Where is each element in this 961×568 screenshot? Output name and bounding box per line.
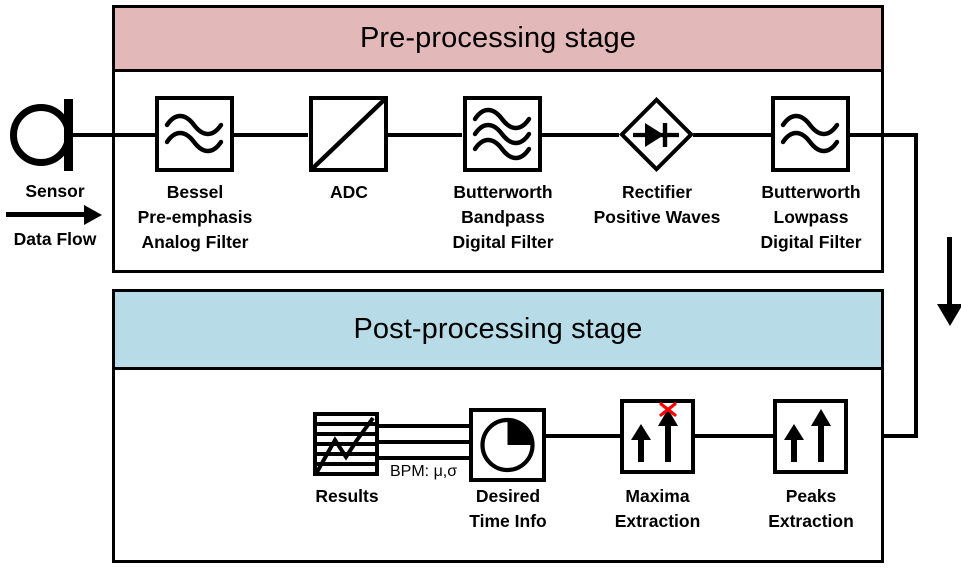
two-up-arrows-icon bbox=[777, 403, 844, 470]
block-results[interactable] bbox=[313, 412, 379, 476]
block-bessel[interactable] bbox=[155, 96, 234, 172]
block-desired-time-info-label: DesiredTime Info bbox=[440, 484, 576, 534]
block-butterworth-lowpass[interactable] bbox=[771, 96, 850, 172]
block-desired-time-info[interactable] bbox=[469, 408, 546, 482]
block-butterworth-bandpass-label: ButterworthBandpassDigital Filter bbox=[418, 180, 588, 255]
wire-sensor-to-bessel bbox=[70, 133, 155, 137]
sensor-icon bbox=[10, 104, 72, 166]
pre-processing-stage-header: Pre-processing stage bbox=[115, 8, 881, 72]
block-results-label: Results bbox=[288, 484, 406, 509]
filter-waves-icon bbox=[775, 100, 846, 168]
block-bessel-label: BesselPre-emphasisAnalog Filter bbox=[110, 180, 280, 255]
wire-desired-to-maxima bbox=[546, 434, 622, 438]
wire-bus-line-3 bbox=[378, 456, 472, 460]
data-flow-label: Data Flow bbox=[0, 228, 110, 252]
wire-lowpass-to-feedback bbox=[850, 133, 918, 137]
block-peaks-extraction-label: PeaksExtraction bbox=[735, 484, 887, 534]
adc-diagonal-icon bbox=[313, 100, 384, 168]
block-adc-label: ADC bbox=[285, 180, 413, 205]
diagram-canvas: Sensor Data Flow Pre-processing stage Be… bbox=[0, 0, 961, 568]
block-rectifier-label: RectifierPositive Waves bbox=[572, 180, 742, 230]
data-flow-arrowhead-icon bbox=[84, 205, 102, 225]
two-up-arrows-with-red-x-icon bbox=[624, 403, 691, 470]
diode-icon bbox=[633, 120, 679, 150]
wire-bandpass-to-rectifier bbox=[542, 133, 619, 137]
wire-maxima-to-peaks bbox=[695, 434, 773, 438]
data-flow-arrow-icon bbox=[6, 212, 86, 217]
block-butterworth-bandpass[interactable] bbox=[463, 96, 542, 172]
post-processing-stage-title: Post-processing stage bbox=[353, 315, 642, 344]
block-peaks-extraction[interactable] bbox=[773, 399, 848, 474]
block-maxima-extraction[interactable] bbox=[620, 399, 695, 474]
wire-bus-line-1 bbox=[378, 424, 472, 428]
flow-direction-arrowhead-icon bbox=[937, 304, 961, 326]
wire-rectifier-to-lowpass bbox=[693, 133, 772, 137]
block-adc[interactable] bbox=[309, 96, 388, 172]
sensor-label: Sensor bbox=[0, 180, 110, 204]
wire-adc-to-bandpass bbox=[388, 133, 462, 137]
bpm-connection-label: BPM: μ,σ bbox=[390, 464, 457, 480]
pre-processing-stage-title: Pre-processing stage bbox=[360, 24, 636, 53]
flow-direction-arrow-icon bbox=[947, 237, 952, 309]
wire-bessel-to-adc bbox=[234, 133, 308, 137]
wire-bus-line-2 bbox=[378, 440, 472, 444]
post-processing-stage-header: Post-processing stage bbox=[115, 292, 881, 370]
clock-pie-icon bbox=[473, 412, 542, 478]
block-butterworth-lowpass-label: ButterworthLowpassDigital Filter bbox=[726, 180, 896, 255]
wire-feedback-vertical bbox=[914, 133, 918, 438]
block-maxima-extraction-label: MaximaExtraction bbox=[580, 484, 735, 534]
filter-waves-icon bbox=[467, 100, 538, 168]
filter-waves-icon bbox=[159, 100, 230, 168]
results-chart-icon bbox=[313, 412, 379, 476]
